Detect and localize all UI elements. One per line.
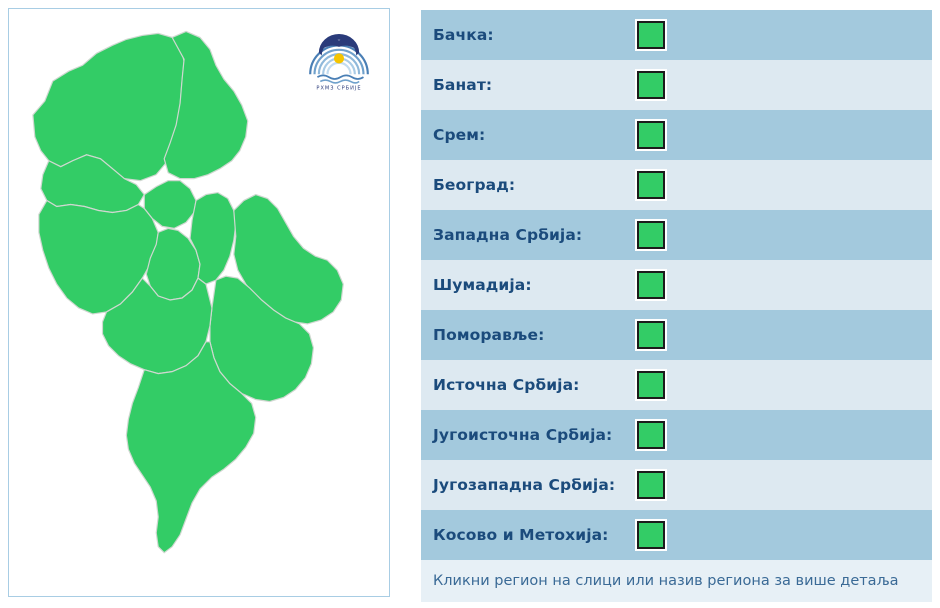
swatch-cell-banat bbox=[621, 71, 681, 99]
legend-row-beograd[interactable]: Београд: bbox=[421, 160, 932, 210]
warning-level-swatch[interactable] bbox=[637, 321, 665, 349]
warning-level-swatch[interactable] bbox=[637, 71, 665, 99]
region-legend-panel: Бачка: Банат: Срем: Београд: bbox=[421, 10, 932, 602]
logo-waves bbox=[317, 75, 363, 83]
legend-row-sumadija[interactable]: Шумадија: bbox=[421, 260, 932, 310]
weather-warning-page: РХМЗ СРБИЈЕ Бачка: Банат: Срем: bbox=[0, 0, 940, 608]
swatch-cell-zapadna-srbija bbox=[621, 221, 681, 249]
region-name-srem[interactable]: Срем: bbox=[421, 126, 621, 144]
click-hint-text: Кликни регион на слици или назив региона… bbox=[421, 560, 932, 602]
legend-row-jugoistocna-srbija[interactable]: Југоисточна Србија: bbox=[421, 410, 932, 460]
warning-level-swatch[interactable] bbox=[637, 371, 665, 399]
region-name-jugoistocna-srbija[interactable]: Југоисточна Србија: bbox=[421, 426, 621, 444]
map-panel[interactable]: РХМЗ СРБИЈЕ bbox=[8, 8, 390, 597]
logo-crest-icon bbox=[319, 34, 359, 56]
legend-row-zapadna-srbija[interactable]: Западна Србија: bbox=[421, 210, 932, 260]
warning-level-swatch[interactable] bbox=[637, 21, 665, 49]
swatch-cell-jugozapadna-srbija bbox=[621, 471, 681, 499]
warning-level-swatch[interactable] bbox=[637, 171, 665, 199]
region-backa[interactable] bbox=[33, 33, 184, 180]
logo-caption: РХМЗ СРБИЈЕ bbox=[316, 85, 361, 91]
warning-level-swatch[interactable] bbox=[637, 421, 665, 449]
legend-row-kosovo-i-metohija[interactable]: Косово и Метохија: bbox=[421, 510, 932, 560]
warning-level-swatch[interactable] bbox=[637, 521, 665, 549]
warning-level-swatch[interactable] bbox=[637, 271, 665, 299]
serbia-regions-map[interactable] bbox=[9, 9, 389, 596]
swatch-cell-srem bbox=[621, 121, 681, 149]
region-name-istocna-srbija[interactable]: Источна Србија: bbox=[421, 376, 621, 394]
swatch-cell-backa bbox=[621, 21, 681, 49]
region-name-jugozapadna-srbija[interactable]: Југозападна Србија: bbox=[421, 476, 621, 494]
swatch-cell-istocna-srbija bbox=[621, 371, 681, 399]
warning-level-swatch[interactable] bbox=[637, 471, 665, 499]
legend-row-pomoravlje[interactable]: Поморавље: bbox=[421, 310, 932, 360]
legend-row-banat[interactable]: Банат: bbox=[421, 60, 932, 110]
legend-row-srem[interactable]: Срем: bbox=[421, 110, 932, 160]
map-regions[interactable] bbox=[33, 31, 343, 552]
region-name-pomoravlje[interactable]: Поморавље: bbox=[421, 326, 621, 344]
swatch-cell-sumadija bbox=[621, 271, 681, 299]
logo-sun-icon bbox=[334, 53, 344, 63]
region-name-banat[interactable]: Банат: bbox=[421, 76, 621, 94]
legend-row-backa[interactable]: Бачка: bbox=[421, 10, 932, 60]
region-name-beograd[interactable]: Београд: bbox=[421, 176, 621, 194]
legend-row-istocna-srbija[interactable]: Источна Србија: bbox=[421, 360, 932, 410]
warning-level-swatch[interactable] bbox=[637, 221, 665, 249]
rhmz-logo: РХМЗ СРБИЈЕ bbox=[303, 21, 375, 93]
region-name-zapadna-srbija[interactable]: Западна Србија: bbox=[421, 226, 621, 244]
region-name-kosovo-i-metohija[interactable]: Косово и Метохија: bbox=[421, 526, 621, 544]
swatch-cell-beograd bbox=[621, 171, 681, 199]
swatch-cell-pomoravlje bbox=[621, 321, 681, 349]
region-name-sumadija[interactable]: Шумадија: bbox=[421, 276, 621, 294]
warning-level-swatch[interactable] bbox=[637, 121, 665, 149]
region-name-backa[interactable]: Бачка: bbox=[421, 26, 621, 44]
legend-row-jugozapadna-srbija[interactable]: Југозападна Србија: bbox=[421, 460, 932, 510]
swatch-cell-jugoistocna-srbija bbox=[621, 421, 681, 449]
swatch-cell-kosovo-i-metohija bbox=[621, 521, 681, 549]
